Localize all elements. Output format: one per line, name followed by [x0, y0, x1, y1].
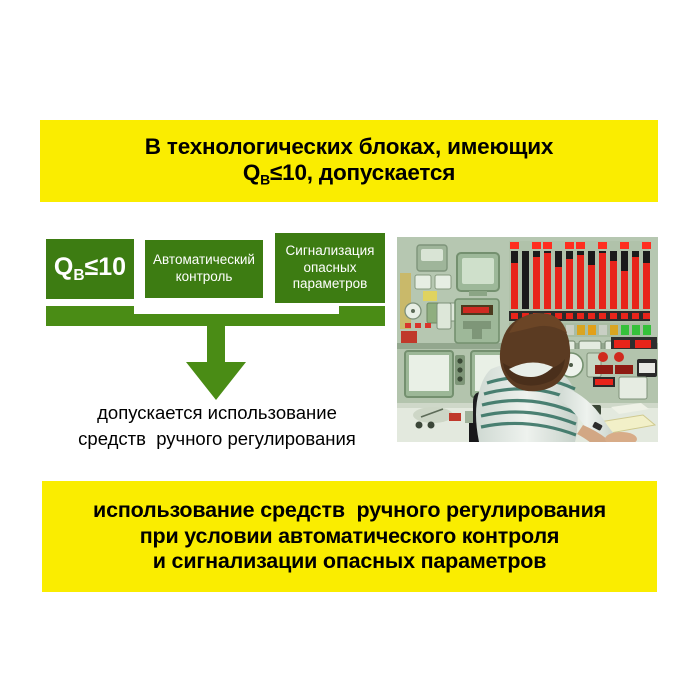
flow-box-q-threshold[interactable]: QВ≤10 — [46, 239, 134, 299]
flow-box-automatic-control[interactable]: Автоматический контроль — [145, 240, 263, 298]
q-threshold-value: ≤10 — [85, 253, 127, 281]
flow-box-hazard-alarm-label: Сигнализация опасных параметров — [286, 243, 375, 294]
title-banner-line-1: В технологических блоках, имеющих — [145, 134, 553, 161]
flow-box-automatic-control-label: Автоматический контроль — [153, 252, 255, 286]
arrow-caption: допускается использование средств ручног… — [52, 400, 382, 451]
flow-box-hazard-alarm[interactable]: Сигнализация опасных параметров — [275, 233, 385, 303]
title-banner-line-2-suffix: ≤10, допускается — [270, 160, 455, 185]
conclusion-banner-line-3: и сигнализации опасных параметров — [153, 549, 546, 574]
down-arrow-icon — [183, 322, 249, 400]
q-symbol: Q — [243, 160, 260, 185]
arrow-caption-line-2: средств ручного регулирования — [52, 426, 382, 452]
title-banner: В технологических блоках, имеющих QВ≤10,… — [40, 120, 658, 202]
conclusion-banner-line-1: использование средств ручного регулирова… — [93, 498, 606, 523]
control-room-photo — [397, 237, 658, 442]
conclusion-banner: использование средств ручного регулирова… — [42, 481, 657, 592]
control-room-photo-graphic — [397, 237, 658, 442]
q-subscript: В — [73, 267, 84, 284]
arrow-caption-line-1: допускается использование — [52, 400, 382, 426]
conclusion-banner-line-2: при условии автоматического контроля — [140, 524, 560, 549]
down-arrow-shape — [183, 322, 249, 400]
q-symbol: Q — [54, 253, 73, 281]
slide-canvas: В технологических блоках, имеющих QВ≤10,… — [0, 0, 700, 700]
title-banner-line-2: QВ≤10, допускается — [243, 160, 455, 188]
q-subscript: В — [260, 172, 270, 188]
flow-box-q-threshold-label: QВ≤10 — [54, 252, 126, 285]
